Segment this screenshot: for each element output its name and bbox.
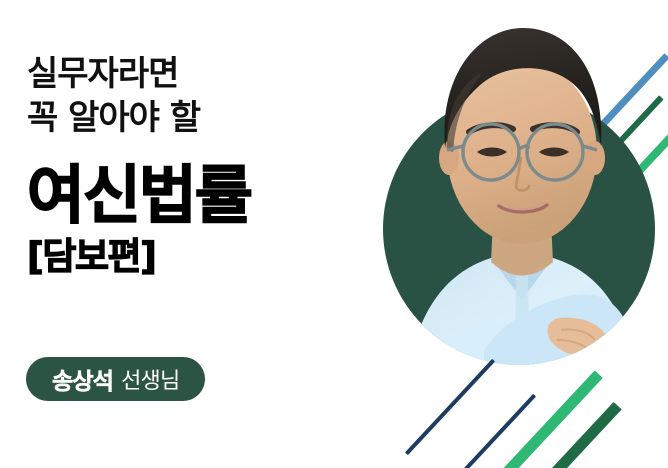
- instructor-honorific: 선생님: [121, 363, 179, 395]
- kicker-line-2: 꼭 알아야 할: [27, 96, 367, 140]
- banner-text-block: 실무자라면 꼭 알아야 할 여신법률 [담보편]: [27, 52, 367, 280]
- promo-banner: 실무자라면 꼭 알아야 할 여신법률 [담보편] 송상석 선생님: [0, 0, 668, 468]
- instructor-portrait: [383, 0, 668, 420]
- instructor-name: 송상석: [52, 362, 113, 396]
- kicker-line-1: 실무자라면: [27, 52, 367, 96]
- page-subtitle: [담보편]: [27, 234, 367, 280]
- page-title: 여신법률: [27, 160, 367, 232]
- instructor-badge: 송상석 선생님: [26, 357, 205, 401]
